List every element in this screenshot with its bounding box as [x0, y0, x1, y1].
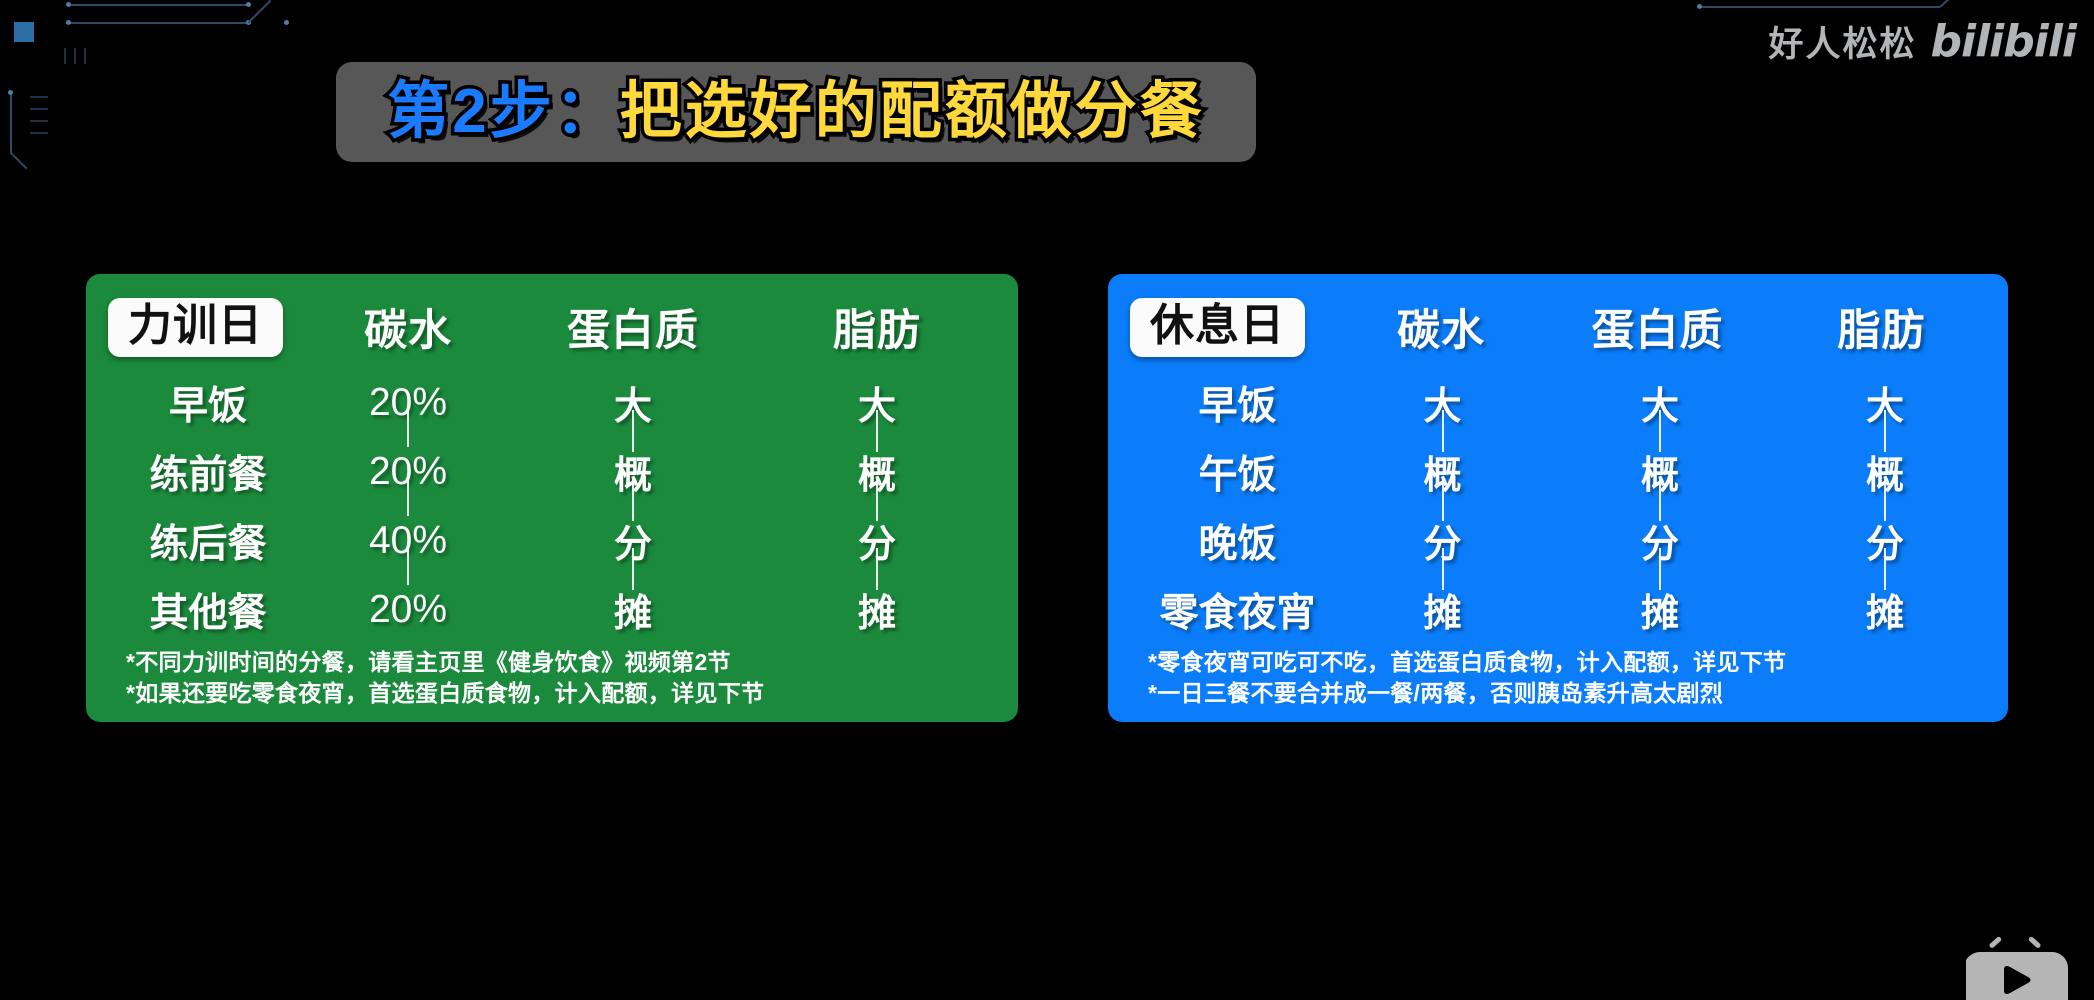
- training-fat-0: 大: [758, 375, 996, 430]
- rest-protein-2: 分: [1540, 513, 1780, 568]
- training-protein-2: 分: [508, 513, 758, 568]
- rest-table-body: 早饭 大 大 大 午饭 概 概 概 晚饭 分 分 分 零食夜宵 摊 摊: [1130, 368, 1986, 645]
- connector-line: [407, 405, 409, 447]
- training-protein-0: 大: [508, 375, 758, 430]
- table-row: 练前餐 20% 概 概: [108, 437, 996, 506]
- rest-carb-2: 分: [1345, 513, 1540, 568]
- decor-diagonal-3: [1939, 0, 1966, 8]
- training-meal-3: 其他餐: [108, 582, 308, 638]
- training-col-fat: 脂肪: [758, 296, 996, 358]
- page-title: 第2步：把选好的配额做分餐: [387, 81, 1205, 143]
- rest-header-row: 休息日 碳水 蛋白质 脂肪: [1130, 290, 1986, 364]
- rest-carb-3: 摊: [1345, 582, 1540, 637]
- decor-tick-h-1: [30, 96, 48, 98]
- training-protein-3: 摊: [508, 582, 758, 637]
- training-col-protein: 蛋白质: [508, 296, 758, 358]
- rest-meal-3: 零食夜宵: [1130, 582, 1345, 638]
- decor-tick-h-2: [30, 108, 48, 110]
- rest-protein-1: 概: [1540, 444, 1780, 499]
- table-row: 早饭 20% 大 大: [108, 368, 996, 437]
- bilibili-logo: bilibili: [1931, 16, 2076, 67]
- decor-square: [14, 22, 34, 42]
- rest-fat-3: 摊: [1780, 582, 1990, 637]
- training-table-body: 早饭 20% 大 大 练前餐 20% 概 概 练后餐 40% 分 分 其他餐 2…: [108, 368, 996, 645]
- training-header-row: 力训日 碳水 蛋白质 脂肪: [108, 290, 996, 364]
- rest-fat-2: 分: [1780, 513, 1990, 568]
- title-prefix: 第2步：: [387, 77, 619, 146]
- rest-notes: *零食夜宵可吃可不吃，首选蛋白质食物，计入配额，详见下节 *一日三餐不要合并成一…: [1130, 647, 1986, 710]
- rest-col-carb: 碳水: [1344, 296, 1538, 358]
- connector-line: [407, 474, 409, 516]
- training-day-pill: 力训日: [108, 298, 283, 357]
- rest-note-0: *零食夜宵可吃可不吃，首选蛋白质食物，计入配额，详见下节: [1148, 647, 1986, 679]
- watermark: 好人松松 bilibili: [1769, 16, 2077, 67]
- training-notes: *不同力训时间的分餐，请看主页里《健身饮食》视频第2节 *如果还要吃零食夜宵，首…: [108, 647, 996, 710]
- training-fat-1: 概: [758, 444, 996, 499]
- training-carb-0: 20%: [308, 381, 508, 425]
- training-carb-2: 40%: [308, 519, 508, 563]
- slide-canvas: 好人松松 bilibili 第2步：把选好的配额做分餐 力训日 碳水 蛋白质 脂…: [0, 0, 2094, 1000]
- training-meal-1: 练前餐: [108, 444, 308, 500]
- decor-dot-6: [8, 90, 13, 95]
- table-row: 练后餐 40% 分 分: [108, 506, 996, 575]
- decor-diagonal-2: [10, 152, 27, 169]
- connector-line: [407, 543, 409, 585]
- table-row: 早饭 大 大 大: [1130, 368, 1990, 437]
- training-protein-1: 概: [508, 444, 758, 499]
- bilibili-tv-mascot-icon: [1966, 922, 2086, 1000]
- decor-diagonal-1: [247, 0, 271, 24]
- decor-tick-1: [64, 48, 66, 64]
- rest-meal-0: 早饭: [1130, 375, 1345, 431]
- decor-dot-7: [1697, 4, 1702, 9]
- training-note-0: *不同力训时间的分餐，请看主页里《健身饮食》视频第2节: [126, 647, 996, 679]
- decor-tick-h-3: [30, 120, 48, 122]
- training-day-panel: 力训日 碳水 蛋白质 脂肪 早饭 20% 大 大 练前餐 20% 概 概 练后餐…: [86, 274, 1018, 722]
- table-row: 晚饭 分 分 分: [1130, 506, 1990, 575]
- training-meal-2: 练后餐: [108, 513, 308, 569]
- decor-dot-5: [284, 20, 289, 25]
- table-row: 午饭 概 概 概: [1130, 437, 1990, 506]
- rest-day-panel: 休息日 碳水 蛋白质 脂肪 早饭 大 大 大 午饭 概 概 概 晚饭 分 分: [1108, 274, 2008, 722]
- decor-dot-1: [66, 2, 71, 7]
- decor-line-right-1: [1700, 6, 1940, 8]
- rest-note-1: *一日三餐不要合并成一餐/两餐，否则胰岛素升高太剧烈: [1148, 678, 1986, 710]
- training-carb-3: 20%: [308, 588, 508, 632]
- watermark-author: 好人松松: [1769, 16, 1917, 67]
- decor-line-top-2: [68, 22, 248, 24]
- decor-tick-2: [74, 48, 76, 64]
- rest-fat-1: 概: [1780, 444, 1990, 499]
- decor-dot-2: [246, 2, 251, 7]
- rest-meal-1: 午饭: [1130, 444, 1345, 500]
- table-row: 零食夜宵 摊 摊 摊: [1130, 575, 1990, 644]
- training-col-carb: 碳水: [308, 296, 508, 358]
- decor-dot-3: [66, 20, 71, 25]
- rest-protein-3: 摊: [1540, 582, 1780, 637]
- decor-dot-4: [246, 20, 251, 25]
- rest-col-fat: 脂肪: [1777, 296, 1986, 358]
- rest-protein-0: 大: [1540, 375, 1780, 430]
- rest-day-pill: 休息日: [1130, 298, 1305, 357]
- rest-fat-0: 大: [1780, 375, 1990, 430]
- rest-col-protein: 蛋白质: [1538, 296, 1777, 358]
- training-note-1: *如果还要吃零食夜宵，首选蛋白质食物，计入配额，详见下节: [126, 678, 996, 710]
- decor-line-left-vert: [10, 92, 12, 154]
- table-row: 其他餐 20% 摊 摊: [108, 575, 996, 644]
- rest-carb-0: 大: [1345, 375, 1540, 430]
- decor-tick-3: [84, 48, 86, 64]
- training-meal-0: 早饭: [108, 375, 308, 431]
- rest-carb-1: 概: [1345, 444, 1540, 499]
- training-fat-2: 分: [758, 513, 996, 568]
- training-carb-1: 20%: [308, 450, 508, 494]
- title-main: 把选好的配额做分餐: [620, 77, 1205, 146]
- decor-tick-h-4: [30, 132, 48, 134]
- title-banner: 第2步：把选好的配额做分餐: [336, 62, 1256, 162]
- decor-line-top-1: [68, 4, 248, 6]
- training-fat-3: 摊: [758, 582, 996, 637]
- rest-meal-2: 晚饭: [1130, 513, 1345, 569]
